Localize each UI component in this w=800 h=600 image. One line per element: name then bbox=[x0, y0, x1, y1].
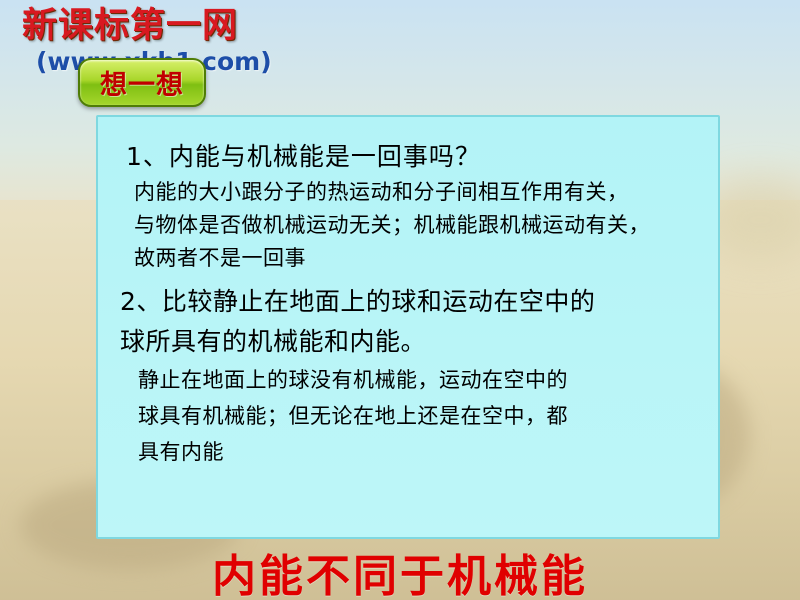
question-1: 1、内能与机械能是一回事吗？ bbox=[126, 137, 700, 173]
conclusion-text: 内能不同于机械能 bbox=[0, 540, 800, 600]
answer-2-line-2: 球具有机械能；但无论在地上还是在空中，都 bbox=[138, 400, 700, 430]
answer-1-line-3: 故两者不是一回事 bbox=[134, 242, 700, 272]
content-panel: 1、内能与机械能是一回事吗？ 内能的大小跟分子的热运动和分子间相互作用有关， 与… bbox=[96, 115, 720, 539]
question-2-line-1: 2、比较静止在地面上的球和运动在空中的 bbox=[120, 282, 700, 318]
think-button-label: 想一想 bbox=[100, 63, 184, 102]
answer-1-line-1: 内能的大小跟分子的热运动和分子间相互作用有关， bbox=[134, 176, 700, 206]
answer-2-line-3: 具有内能 bbox=[138, 436, 700, 466]
think-button[interactable]: 想一想 bbox=[78, 58, 206, 107]
slide-canvas: 新课标第一网 (www.xkb1.com) 想一想 1、内能与机械能是一回事吗？… bbox=[0, 0, 800, 600]
answer-2-line-1: 静止在地面上的球没有机械能，运动在空中的 bbox=[138, 364, 700, 394]
question-2-line-2: 球所具有的机械能和内能。 bbox=[120, 322, 700, 358]
answer-1-line-2: 与物体是否做机械运动无关；机械能跟机械运动有关， bbox=[134, 209, 700, 239]
site-logo-title: 新课标第一网 bbox=[22, 8, 272, 45]
